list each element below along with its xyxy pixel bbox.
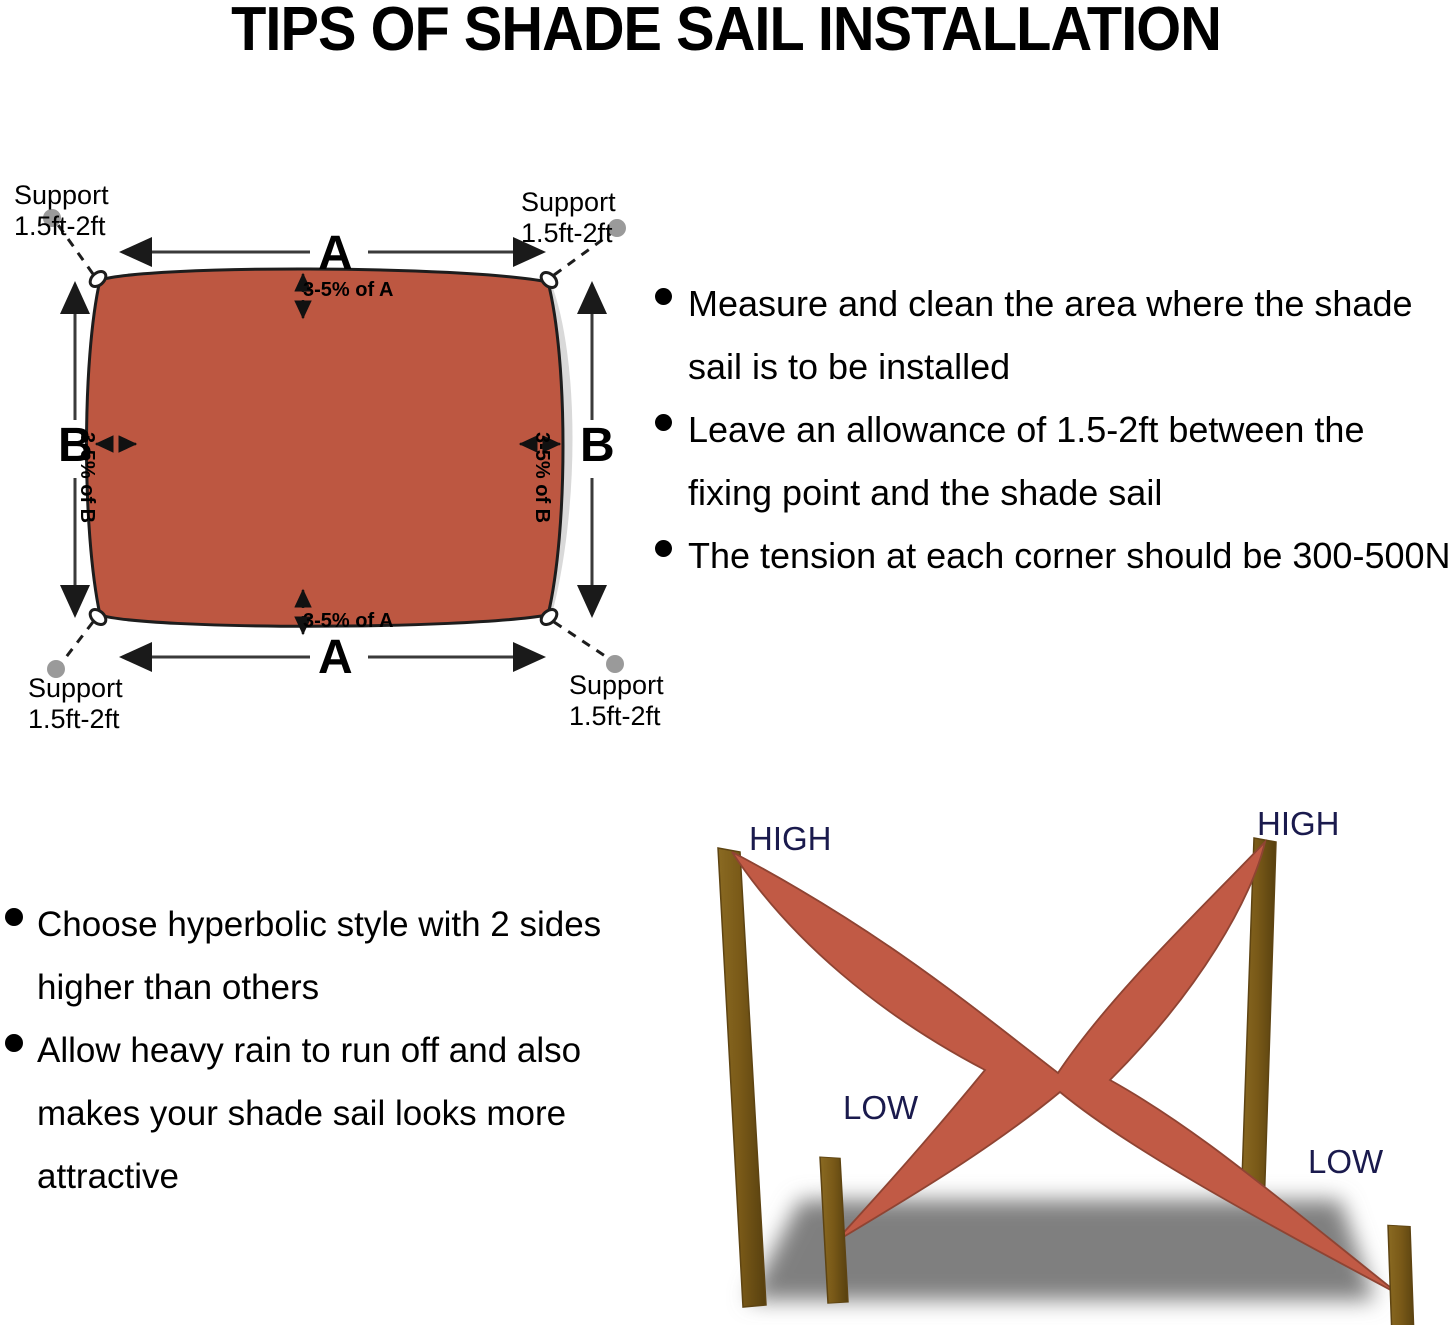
list-item-label: Measure and clean the area where the sha… [688, 272, 1452, 398]
list-item-label: Allow heavy rain to run off and also mak… [37, 1019, 625, 1208]
support-label-line1: Support [521, 187, 616, 218]
pole-low-right [1388, 1225, 1416, 1325]
tips-list-left: Choose hyperbolic style with 2 sides hig… [5, 893, 625, 1208]
support-label-line1: Support [14, 180, 109, 211]
list-item: The tension at each corner should be 300… [655, 524, 1452, 587]
bullet-dot-icon [5, 908, 23, 926]
list-item: Choose hyperbolic style with 2 sides hig… [5, 893, 625, 1019]
list-item: Allow heavy rain to run off and also mak… [5, 1019, 625, 1208]
support-label-bottom-left: Support 1.5ft-2ft [28, 673, 123, 735]
list-item-label: Leave an allowance of 1.5-2ft between th… [688, 398, 1452, 524]
bullet-dot-icon [655, 288, 672, 305]
bullet-dot-icon [5, 1034, 23, 1052]
support-label-top-left: Support 1.5ft-2ft [14, 180, 109, 242]
support-label-line2: 1.5ft-2ft [14, 211, 109, 242]
bullet-dot-icon [655, 540, 672, 557]
label-high-right: HIGH [1257, 805, 1340, 843]
dimension-label-b-right: B [580, 418, 615, 473]
pole-high-left [718, 848, 766, 1307]
list-item-label: Choose hyperbolic style with 2 sides hig… [37, 893, 625, 1019]
page-title: TIPS OF SHADE SAIL INSTALLATION [51, 0, 1401, 65]
bullet-dot-icon [655, 414, 672, 431]
page-root: TIPS OF SHADE SAIL INSTALLATION [0, 0, 1452, 1325]
curve-label-left: 3-5% of B [75, 432, 98, 523]
label-low-left: LOW [843, 1089, 918, 1127]
support-label-line1: Support [28, 673, 123, 704]
tips-list-right: Measure and clean the area where the sha… [655, 272, 1452, 587]
dimension-label-a-bottom: A [318, 630, 353, 685]
list-item-label: The tension at each corner should be 300… [688, 524, 1451, 587]
list-item: Measure and clean the area where the sha… [655, 272, 1452, 398]
hyperbolic-sail-diagram [640, 780, 1452, 1325]
support-label-line1: Support [569, 670, 664, 701]
support-label-top-right: Support 1.5ft-2ft [521, 187, 616, 249]
curve-label-right: 3-5% of B [530, 432, 553, 523]
list-item: Leave an allowance of 1.5-2ft between th… [655, 398, 1452, 524]
label-high-left: HIGH [749, 820, 832, 858]
curve-label-bottom: 3-5% of A [303, 610, 393, 633]
curve-label-top: 3-5% of A [303, 279, 393, 302]
dimension-label-a-top: A [318, 226, 353, 281]
support-label-line2: 1.5ft-2ft [569, 701, 664, 732]
sail-fabric [87, 269, 564, 626]
support-label-line2: 1.5ft-2ft [28, 704, 123, 735]
label-low-right: LOW [1308, 1143, 1383, 1181]
support-label-bottom-right: Support 1.5ft-2ft [569, 670, 664, 732]
support-label-line2: 1.5ft-2ft [521, 218, 616, 249]
